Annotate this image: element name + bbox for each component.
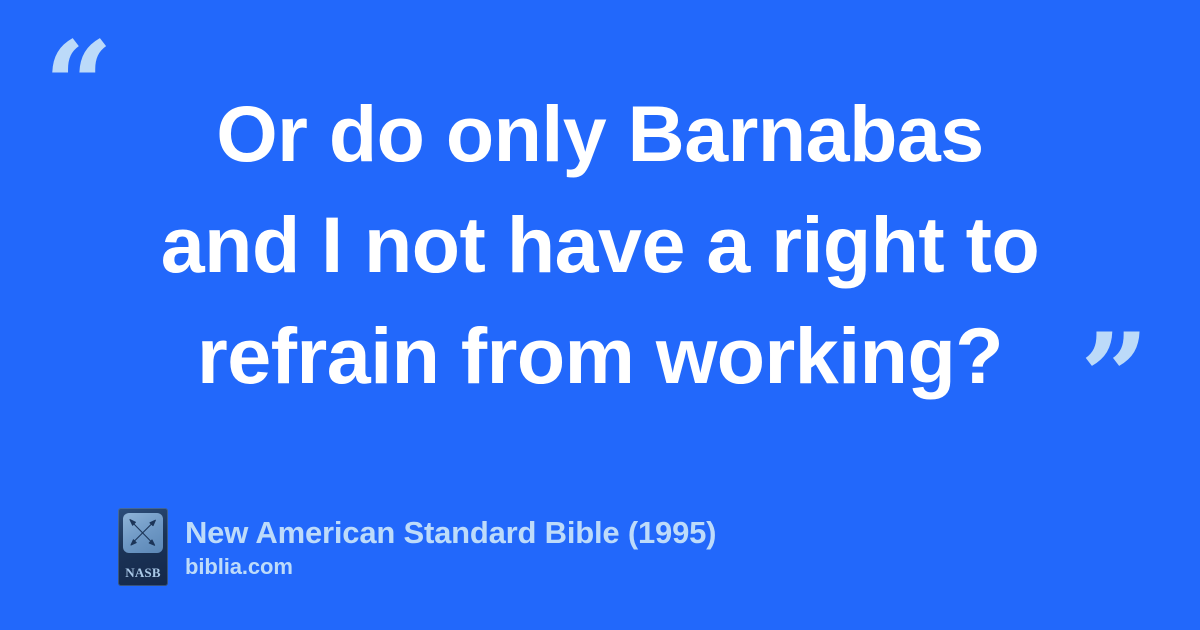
logo-wordmark: NASB	[118, 566, 168, 579]
quote-block: Or do only Barnabas and I not have a rig…	[100, 78, 1100, 411]
quote-card: “ Or do only Barnabas and I not have a r…	[0, 0, 1200, 630]
source-website-label: biblia.com	[185, 554, 716, 580]
quill-cross-icon	[123, 513, 163, 553]
nasb-logo-icon: NASB	[118, 508, 168, 586]
attribution-footer: NASB New American Standard Bible (1995) …	[118, 508, 716, 586]
bible-version-label: New American Standard Bible (1995)	[185, 514, 716, 552]
close-quote-icon: ”	[1080, 318, 1147, 438]
attribution-text-block: New American Standard Bible (1995) bibli…	[185, 508, 716, 580]
quote-text: Or do only Barnabas and I not have a rig…	[100, 78, 1100, 411]
